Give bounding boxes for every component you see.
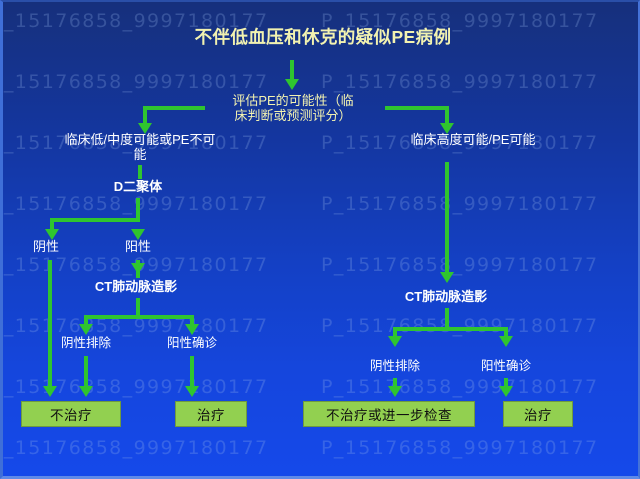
node-assess-line2: 床判断或预测评分） bbox=[203, 109, 383, 124]
watermark-text: P_15176858_9997180177 bbox=[321, 376, 598, 398]
node-left-branch-line2: 能 bbox=[15, 148, 265, 163]
connector-rightbranch-ct-line bbox=[445, 162, 449, 280]
page-title: 不伴低血压和休克的疑似PE病例 bbox=[123, 28, 523, 48]
connector-assess-left-h bbox=[143, 106, 205, 110]
node-ct-right-label: CT肺动脉造影 bbox=[405, 289, 487, 304]
node-ct-right: CT肺动脉造影 bbox=[371, 290, 521, 305]
watermark-text: P_15176858_9997180177 bbox=[321, 254, 598, 276]
node-ct-right-positive: 阳性确诊 bbox=[467, 359, 545, 373]
node-right-branch: 临床高度可能/PE可能 bbox=[363, 133, 583, 148]
watermark-text: P_15176858_9997180177 bbox=[321, 315, 598, 337]
node-d-dimer-label: D二聚体 bbox=[114, 179, 162, 194]
node-ct-left-label: CT肺动脉造影 bbox=[95, 279, 177, 294]
connector-ctleft-neg-arrow bbox=[79, 324, 93, 335]
watermark-text: P_15176858_9997180177 bbox=[321, 71, 598, 93]
watermark-text: P_15176858_9997180177 bbox=[3, 437, 268, 459]
connector-assess-right-h bbox=[385, 106, 449, 110]
connector-left-ddimer-line bbox=[138, 165, 142, 179]
node-ddimer-negative: 阴性 bbox=[11, 240, 81, 255]
watermark-text: P_15176858_9997180177 bbox=[3, 71, 268, 93]
outcome-box-no-treatment-or-further-exam[interactable]: 不治疗或进一步检查 bbox=[303, 401, 475, 427]
connector-ctrightneg-outcome-arrow bbox=[388, 386, 402, 397]
connector-ctrightpos-outcome-arrow bbox=[499, 386, 513, 397]
node-ct-left-positive: 阳性确诊 bbox=[153, 336, 231, 350]
connector-ctleftpos-outcome-line bbox=[190, 356, 194, 388]
connector-ctright-pos-arrow bbox=[499, 336, 513, 347]
connector-title-assess-arrow bbox=[285, 79, 299, 90]
connector-ddimerpos-ct-arrow bbox=[131, 263, 145, 274]
connector-ctleftpos-outcome-arrow bbox=[185, 386, 199, 397]
watermark-text: P_15176858_9997180177 bbox=[321, 193, 598, 215]
node-ct-right-negative: 阴性排除 bbox=[356, 359, 434, 373]
node-assess-probability: 评估PE的可能性（临 床判断或预测评分） bbox=[203, 94, 383, 123]
connector-ddimerneg-outcome-line bbox=[48, 260, 52, 388]
slide-canvas: P_15176858_9997180177P_15176858_99971801… bbox=[0, 0, 640, 479]
outcome-box-treatment-right[interactable]: 治疗 bbox=[503, 401, 573, 427]
connector-ddimer-tbar bbox=[50, 218, 140, 222]
connector-ctleftneg-outcome-arrow bbox=[79, 386, 93, 397]
node-assess-line1: 评估PE的可能性（临 bbox=[203, 94, 383, 109]
connector-ctleft-tbar bbox=[84, 315, 194, 319]
connector-ddimerneg-outcome-arrow bbox=[43, 386, 57, 397]
node-d-dimer: D二聚体 bbox=[68, 180, 208, 195]
node-ct-left: CT肺动脉造影 bbox=[61, 280, 211, 295]
node-left-branch-line1: 临床低/中度可能或PE不可 bbox=[15, 133, 265, 148]
connector-ctleftneg-outcome-line bbox=[84, 356, 88, 388]
connector-rightbranch-ct-arrow bbox=[440, 272, 454, 283]
outcome-box-treatment-left[interactable]: 治疗 bbox=[175, 401, 247, 427]
node-left-branch: 临床低/中度可能或PE不可 能 bbox=[15, 133, 265, 162]
connector-ctleft-pos-arrow bbox=[185, 324, 199, 335]
watermark-text: P_15176858_9997180177 bbox=[321, 437, 598, 459]
connector-ctright-tbar bbox=[393, 327, 508, 331]
node-ddimer-positive: 阳性 bbox=[103, 240, 173, 255]
outcome-box-no-treatment-left[interactable]: 不治疗 bbox=[21, 401, 121, 427]
connector-ctright-neg-arrow bbox=[388, 336, 402, 347]
node-ct-left-negative: 阴性排除 bbox=[47, 336, 125, 350]
